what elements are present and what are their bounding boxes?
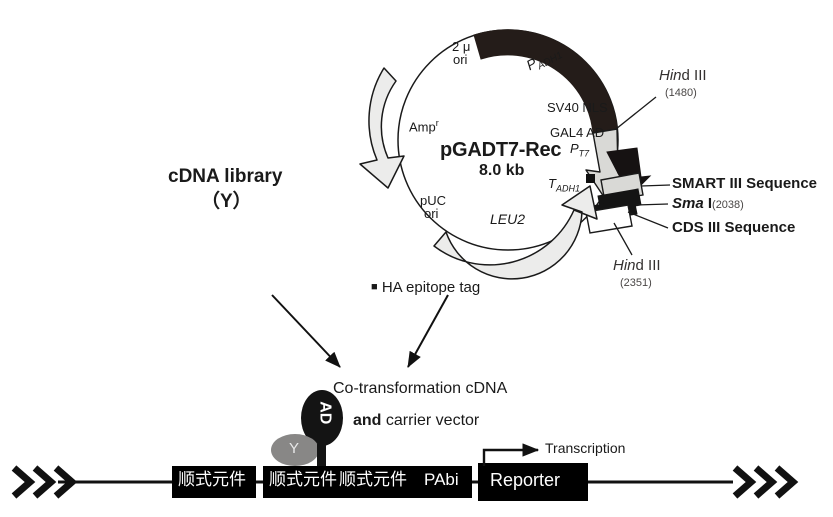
transcription-label: Transcription (545, 441, 625, 456)
sma1-label: Sma I(2038) (672, 196, 744, 213)
plasmid-name: pGADT7-Rec (440, 139, 561, 161)
ad-blob-label: AD (316, 401, 334, 424)
ha-epitope-legend: ■ HA epitope tag (371, 280, 480, 297)
sma1-position: (2038) (712, 199, 744, 211)
amp-text: Amp (409, 119, 436, 134)
cotransformation-rest: carrier vector (381, 412, 479, 429)
sma1-enzyme-rest: I (704, 195, 712, 212)
arrow-plasmid-to-cotransformation (408, 295, 448, 367)
reporter-label: Reporter (490, 471, 560, 491)
leader-smart3 (641, 185, 670, 186)
leader-cds3 (628, 212, 668, 228)
cis-element-label-1: 顺式元件 (178, 471, 246, 490)
hind3-1480-position: (1480) (665, 87, 697, 99)
two-micron-ori-label-line2: ori (453, 53, 467, 67)
p-t7-main: P (570, 141, 579, 156)
ha-legend-label: HA epitope tag (382, 279, 480, 296)
ad-blob-stem (317, 444, 326, 466)
diagram-vector-layer (0, 0, 833, 517)
cis-element-label-2: 顺式元件 (269, 471, 337, 490)
cis-element-label-3: 顺式元件 (339, 471, 407, 490)
cdna-library-title: cDNA library (168, 167, 282, 188)
right-chevrons (735, 468, 793, 496)
hind3-1480-enzyme-italic: Hin (659, 67, 682, 84)
hind3-2351-enzyme-italic: Hin (613, 257, 636, 274)
leu2-arrow (434, 186, 597, 279)
leu2-label: LEU2 (490, 212, 525, 227)
amp-resistance-label: Ampr (409, 119, 439, 135)
hind3-1480-enzyme-rest: d III (682, 67, 707, 84)
cds3-label: CDS III Sequence (672, 220, 795, 237)
t-adh1-main: T (548, 176, 556, 191)
figure-canvas: cDNA library （Y） pGADT7-Rec 8.0 kb 2 μ o… (0, 0, 833, 517)
amp-resistance-arrow (360, 68, 404, 188)
plasmid-size: 8.0 kb (479, 162, 524, 180)
p-t7-label: PT7 (570, 142, 589, 159)
hind3-2351-position: (2351) (620, 277, 652, 289)
ha-tag-marker-on-map (586, 174, 595, 183)
hind3-1480-label: Hind III (659, 68, 707, 85)
cdna-library-subtitle: （Y） (201, 192, 252, 213)
arrow-library-to-cotransformation (272, 295, 340, 367)
prey-blob-label: Y (289, 441, 299, 458)
leader-hind3-1480 (616, 97, 656, 129)
t-adh1-sub: ADH1 (556, 184, 580, 194)
p-adh1-arc (474, 30, 617, 133)
cotransformation-line1: Co-transformation cDNA (333, 380, 507, 398)
smart3-label: SMART III Sequence (672, 176, 817, 193)
ha-legend-marker-icon: ■ (371, 281, 378, 293)
cotransformation-line2: and carrier vector (353, 412, 479, 430)
amp-superscript: r (436, 118, 439, 128)
puc-ori-label-line2: ori (424, 207, 438, 221)
sv40-nls-label: SV40 NLS (547, 101, 608, 115)
hind3-2351-label: Hind III (613, 258, 661, 275)
t-adh1-label: TADH1 (548, 177, 580, 194)
hind3-2351-enzyme-rest: d III (636, 257, 661, 274)
p-t7-sub: T7 (579, 149, 590, 159)
cotransformation-and: and (353, 412, 381, 429)
pabi-label: PAbi (424, 471, 459, 490)
gal4-ad-label: GAL4 AD (550, 126, 604, 140)
sma1-enzyme-italic: Sma (672, 195, 704, 212)
